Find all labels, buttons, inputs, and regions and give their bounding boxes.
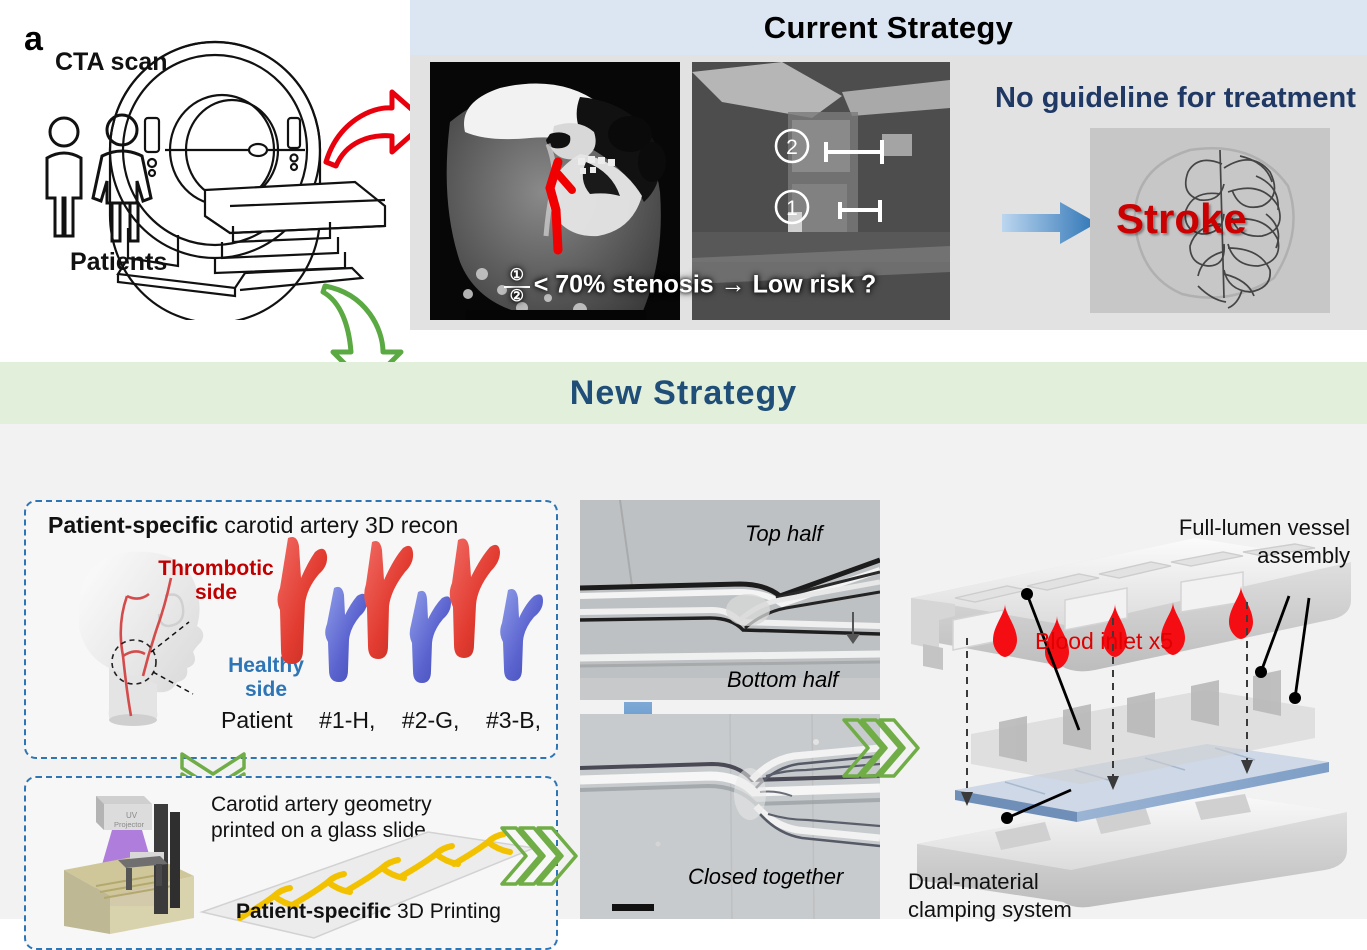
panel-a: a CTA scan Patients xyxy=(0,0,1367,340)
current-strategy-header: Current Strategy xyxy=(410,0,1367,55)
carotid-vessel-models-icon xyxy=(256,530,546,715)
print-caption-line1: Carotid artery geometry xyxy=(211,792,511,818)
current-strategy-panel: Current Strategy xyxy=(410,0,1367,330)
full-lumen-label: Full-lumen vessel assembly xyxy=(1150,514,1350,569)
dual-material-label: Dual-material clamping system xyxy=(908,868,1108,923)
blood-inlet-label: Blood inlet x5 xyxy=(1035,627,1173,656)
panel-b: b New Strategy Patient-specific carotid … xyxy=(0,362,1367,919)
patient-2-label: #2-G, xyxy=(402,707,460,734)
patient-row-label: Patient xyxy=(221,707,293,734)
no-guideline-label: No guideline for treatment xyxy=(995,82,1365,115)
ct-sagittal-image xyxy=(430,62,680,320)
closed-together-label: Closed together xyxy=(688,864,843,890)
reconstruction-box: Patient-specific carotid artery 3D recon xyxy=(24,500,558,759)
print-footer-rest: 3D Printing xyxy=(391,900,501,923)
svg-text:1: 1 xyxy=(786,197,798,220)
print-footer: Patient-specific 3D Printing xyxy=(236,900,501,924)
patient-1-label: #1-H, xyxy=(319,707,375,734)
new-strategy-title: New Strategy xyxy=(0,362,1367,424)
figure-root: a CTA scan Patients xyxy=(0,0,1367,919)
svg-text:2: 2 xyxy=(786,136,798,159)
new-strategy-header: New Strategy xyxy=(0,362,1367,424)
svg-text:Projector: Projector xyxy=(114,820,145,829)
dlp-3d-printer-icon: UV Projector xyxy=(44,794,204,934)
patient-figures-icon xyxy=(30,110,170,250)
reconstruction-title-bold: Patient-specific xyxy=(48,512,218,538)
top-half-label: Top half xyxy=(745,521,822,547)
print-footer-bold: Patient-specific xyxy=(236,900,391,923)
ct-axial-image: 2 1 xyxy=(692,62,950,320)
chevron-right-group-print-icon xyxy=(498,822,580,890)
current-strategy-title: Current Strategy xyxy=(410,0,1367,55)
uv-projector-text: UV xyxy=(126,811,138,820)
gray-down-arrow-icon xyxy=(845,612,861,644)
new-strategy-body: Patient-specific carotid artery 3D recon xyxy=(0,424,1367,919)
printing-box: UV Projector Carotid artery geometry pri… xyxy=(24,776,558,950)
patient-3-label: #3-B, xyxy=(486,707,541,734)
ct-image-group: 2 1 ① ② < 70% stenosis → Low risk xyxy=(430,62,950,320)
bottom-half-label: Bottom half xyxy=(727,667,838,693)
scale-bar xyxy=(612,904,654,911)
stroke-label: Stroke xyxy=(1116,195,1247,243)
blue-block-arrow-icon xyxy=(1002,200,1097,246)
patient-row: Patient #1-H, #2-G, #3-B, xyxy=(221,707,541,734)
